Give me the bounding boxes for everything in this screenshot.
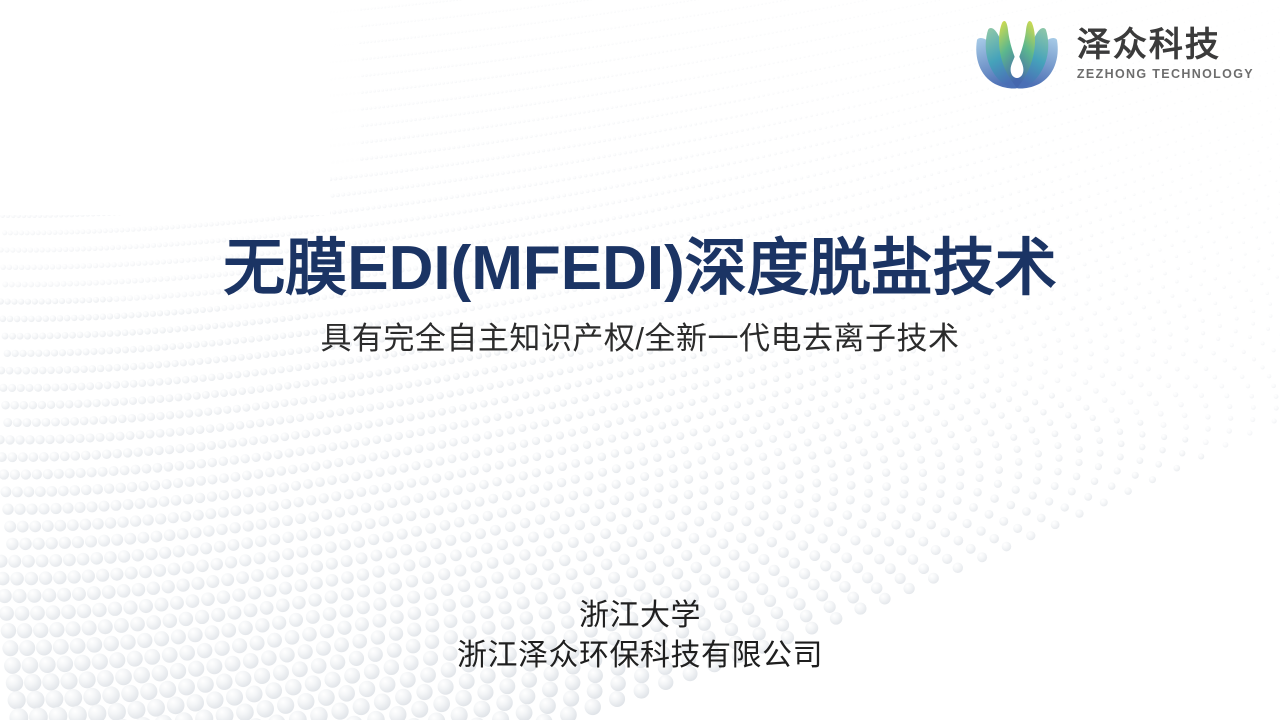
company-logo-lockup: 泽众科技 ZEZHONG TECHNOLOGY — [971, 18, 1254, 90]
logo-company-name-cn: 泽众科技 — [1077, 28, 1221, 64]
slide-subtitle: 具有完全自主知识产权/全新一代电去离子技术 — [0, 320, 1280, 357]
affiliation-line-company: 浙江泽众环保科技有限公司 — [0, 636, 1280, 676]
affiliation-block: 浙江大学 浙江泽众环保科技有限公司 — [0, 596, 1280, 676]
slide-title: 无膜EDI(MFEDI)深度脱盐技术 — [0, 236, 1280, 302]
title-block: 无膜EDI(MFEDI)深度脱盐技术 具有完全自主知识产权/全新一代电去离子技术 — [0, 236, 1280, 357]
zezhong-lotus-droplet-logo — [971, 18, 1063, 90]
logo-company-name-en: ZEZHONG TECHNOLOGY — [1077, 67, 1254, 82]
logo-text-block: 泽众科技 ZEZHONG TECHNOLOGY — [1077, 26, 1254, 82]
title-slide: 泽众科技 ZEZHONG TECHNOLOGY 无膜EDI(MFEDI)深度脱盐… — [0, 0, 1280, 720]
affiliation-line-university: 浙江大学 — [0, 596, 1280, 636]
